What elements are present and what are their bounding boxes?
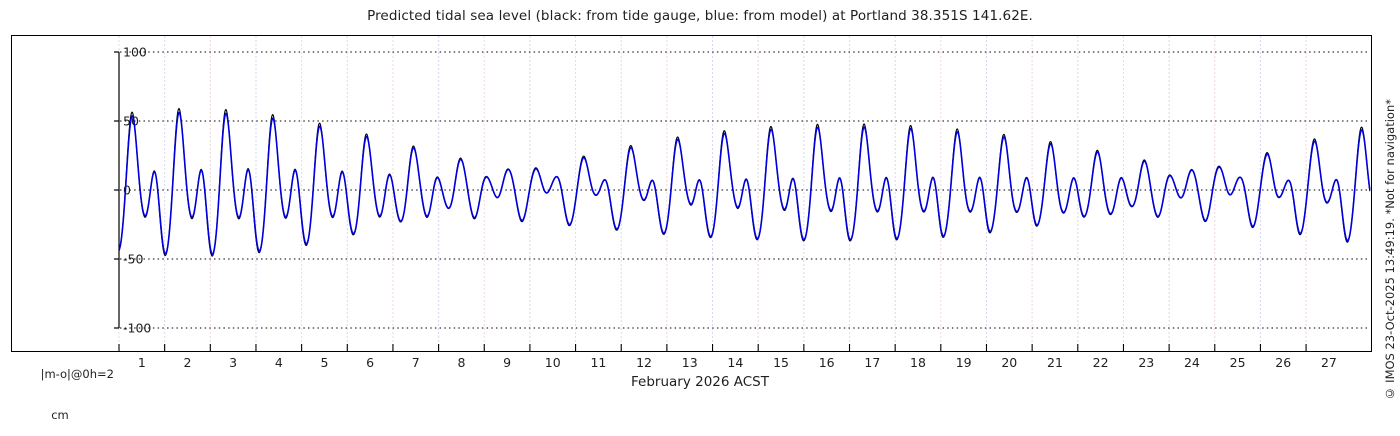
x-tick-label: 23 — [1126, 355, 1166, 370]
y-tick-label: -50 — [123, 252, 143, 267]
horizontal-gridlines — [120, 52, 1370, 328]
x-tick-label: 8 — [441, 355, 481, 370]
x-tick-label: 6 — [350, 355, 390, 370]
y-axis: 100500-50-100 — [114, 45, 151, 336]
x-tick-label: 2 — [167, 355, 207, 370]
tidal-timeseries-chart: 100500-50-100 — [12, 36, 1371, 351]
y-tick-label: -100 — [123, 321, 151, 336]
plot-frame: 100500-50-100 12345678910111213141516171… — [11, 35, 1372, 352]
x-tick-label: 20 — [989, 355, 1029, 370]
x-tick-label: 24 — [1172, 355, 1212, 370]
x-tick-label: 19 — [944, 355, 984, 370]
x-tick-label: 3 — [213, 355, 253, 370]
page-title: Predicted tidal sea level (black: from t… — [0, 8, 1400, 24]
x-tick-label: 16 — [807, 355, 847, 370]
credit-label: © IMOS 23-Oct-2025 13:49:19. *Not for na… — [1383, 97, 1397, 400]
x-tick-label: 9 — [487, 355, 527, 370]
x-tick-label: 17 — [852, 355, 892, 370]
x-tick-label: 15 — [761, 355, 801, 370]
x-tick-label: 12 — [624, 355, 664, 370]
x-tick-label: 26 — [1263, 355, 1303, 370]
x-axis-ticks — [119, 344, 1306, 351]
x-tick-label: 11 — [578, 355, 618, 370]
y-tick-label: 100 — [123, 45, 147, 60]
x-tick-label: 21 — [1035, 355, 1075, 370]
x-tick-label: 10 — [533, 355, 573, 370]
vertical-gridlines — [119, 36, 1306, 351]
x-tick-label: 7 — [396, 355, 436, 370]
stat-units: cm — [18, 409, 114, 423]
x-tick-label: 13 — [670, 355, 710, 370]
x-tick-label: 5 — [304, 355, 344, 370]
x-tick-label: 4 — [259, 355, 299, 370]
x-tick-label: 18 — [898, 355, 938, 370]
credit-text: © IMOS 23-Oct-2025 13:49:19. *Not for na… — [1379, 0, 1400, 400]
series-model-line — [119, 113, 1370, 255]
x-tick-label: 25 — [1218, 355, 1258, 370]
x-tick-label: 14 — [715, 355, 755, 370]
x-tick-label: 27 — [1309, 355, 1349, 370]
x-axis-title: February 2026 ACST — [0, 374, 1400, 390]
y-tick-label: 0 — [123, 183, 131, 198]
x-tick-label: 22 — [1081, 355, 1121, 370]
x-tick-label: 1 — [122, 355, 162, 370]
